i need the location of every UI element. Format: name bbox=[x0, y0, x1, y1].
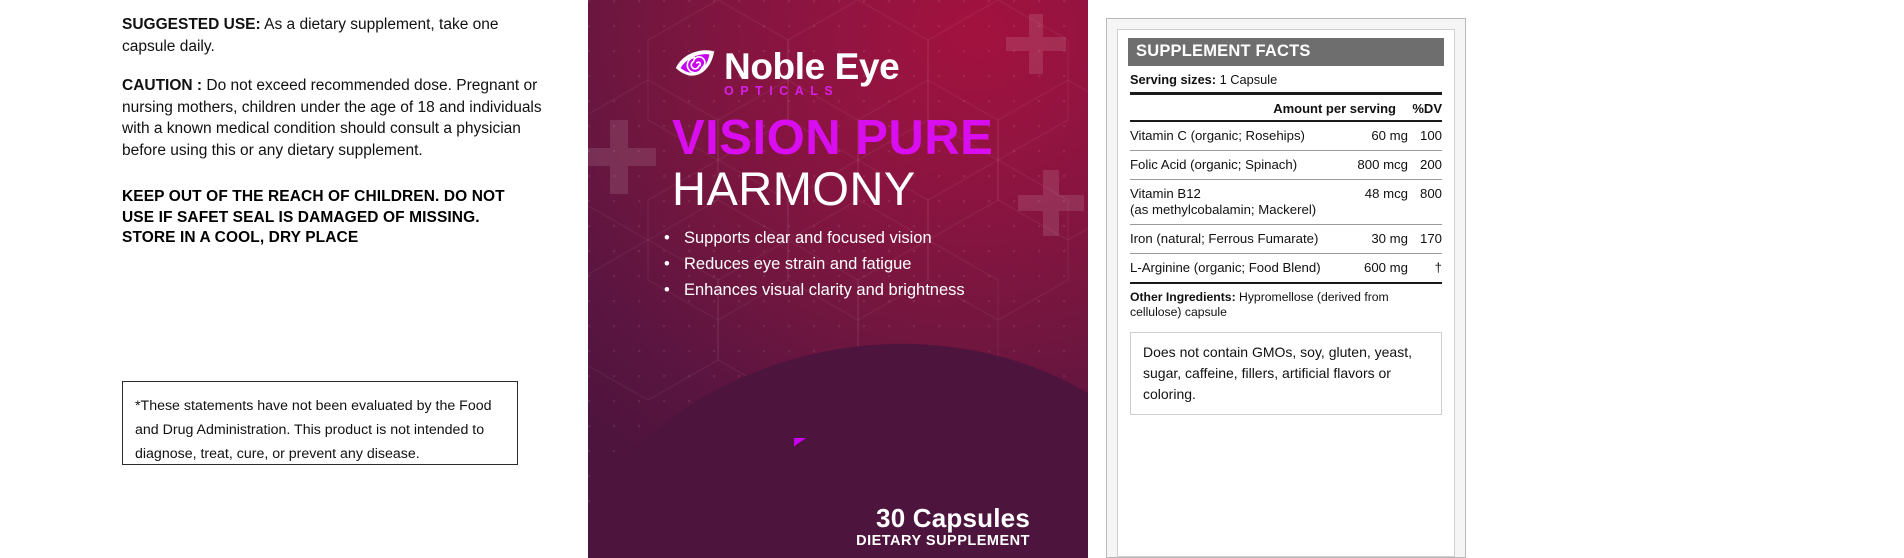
nutrient-dv: † bbox=[1408, 260, 1442, 276]
brand-name: Noble Eye bbox=[724, 47, 899, 87]
table-row: Vitamin C (organic; Rosehips) 60 mg 100 bbox=[1128, 122, 1444, 150]
nutrient-amount: 48 mcg bbox=[1342, 186, 1408, 202]
left-info-panel: SUGGESTED USE: As a dietary supplement, … bbox=[0, 0, 588, 558]
nutrient-amount: 800 mcg bbox=[1342, 157, 1408, 173]
serving-size-value: 1 Capsule bbox=[1220, 72, 1278, 87]
nutrient-dv: 200 bbox=[1408, 157, 1442, 173]
benefit-item: Enhances visual clarity and brightness bbox=[684, 278, 965, 303]
eye-spiral-logo-icon bbox=[672, 44, 718, 90]
table-header-row: Amount per serving %DV bbox=[1128, 95, 1444, 120]
nutrient-dv: 170 bbox=[1408, 231, 1442, 247]
nutrient-name: Iron (natural; Ferrous Fumarate) bbox=[1130, 231, 1342, 247]
nutrient-name: L-Arginine (organic; Food Blend) bbox=[1130, 260, 1342, 276]
allergen-free-box: Does not contain GMOs, soy, gluten, yeas… bbox=[1130, 332, 1442, 415]
nutrient-amount: 30 mg bbox=[1342, 231, 1408, 247]
plus-decoration-icon bbox=[1006, 14, 1066, 74]
benefits-list: Supports clear and focused vision Reduce… bbox=[660, 226, 965, 304]
capsule-count: 30 Capsules bbox=[856, 504, 1030, 532]
table-row: Iron (natural; Ferrous Fumarate) 30 mg 1… bbox=[1128, 225, 1444, 253]
caution-block: CAUTION : Do not exceed recommended dose… bbox=[122, 75, 552, 161]
column-header-amount: Amount per serving bbox=[1273, 101, 1396, 116]
serving-size-label: Serving sizes: bbox=[1130, 72, 1216, 87]
suggested-use-block: SUGGESTED USE: As a dietary supplement, … bbox=[122, 14, 552, 57]
fda-disclaimer-text: *These statements have not been evaluate… bbox=[135, 394, 503, 466]
warning-line-2: USE IF SAFET SEAL IS DAMAGED OF MISSING. bbox=[122, 208, 552, 229]
label-artboard: SUGGESTED USE: As a dietary supplement, … bbox=[0, 0, 1904, 558]
caution-label: CAUTION : bbox=[122, 77, 202, 94]
nutrient-name-sub: (as methylcobalamin; Mackerel) bbox=[1130, 202, 1342, 218]
nutrient-name: Vitamin C (organic; Rosehips) bbox=[1130, 128, 1342, 144]
fda-disclaimer-box: *These statements have not been evaluate… bbox=[122, 381, 518, 465]
keep-out-warning: KEEP OUT OF THE REACH OF CHILDREN. DO NO… bbox=[122, 187, 552, 249]
capsule-count-text: 30 Capsules DIETARY SUPPLEMENT bbox=[856, 504, 1030, 550]
supplement-facts-panel: SUPPLEMENT FACTS Serving sizes: 1 Capsul… bbox=[1106, 18, 1466, 558]
other-ingredients-label: Other Ingredients: bbox=[1130, 290, 1236, 304]
serving-size-row: Serving sizes: 1 Capsule bbox=[1128, 66, 1444, 92]
table-row: Folic Acid (organic; Spinach) 800 mcg 20… bbox=[1128, 151, 1444, 179]
benefit-item: Supports clear and focused vision bbox=[684, 226, 965, 251]
column-header-dv: %DV bbox=[1408, 101, 1442, 116]
left-text-stack: SUGGESTED USE: As a dietary supplement, … bbox=[122, 14, 552, 271]
warning-line-3: STORE IN A COOL, DRY PLACE bbox=[122, 228, 552, 249]
suggested-use-label: SUGGESTED USE: bbox=[122, 16, 261, 33]
table-row: Vitamin B12 (as methylcobalamin; Mackere… bbox=[1128, 180, 1444, 224]
plus-decoration-icon bbox=[588, 120, 656, 194]
nutrient-amount: 600 mg bbox=[1342, 260, 1408, 276]
brand-subtitle: OPTICALS bbox=[724, 84, 839, 98]
table-row: L-Arginine (organic; Food Blend) 600 mg … bbox=[1128, 254, 1444, 282]
nutrient-name-group: Vitamin B12 (as methylcobalamin; Mackere… bbox=[1130, 186, 1342, 218]
dietary-supplement-label: DIETARY SUPPLEMENT bbox=[856, 532, 1030, 550]
product-title-line1: VISION PURE bbox=[672, 112, 993, 164]
nutrient-amount: 60 mg bbox=[1342, 128, 1408, 144]
supplement-facts-title: SUPPLEMENT FACTS bbox=[1128, 38, 1444, 66]
plus-decoration-icon bbox=[1018, 170, 1084, 236]
nutrient-dv: 100 bbox=[1408, 128, 1442, 144]
nutrient-name: Folic Acid (organic; Spinach) bbox=[1130, 157, 1342, 173]
product-title-line2: HARMONY bbox=[672, 163, 916, 215]
supplement-facts-card: SUPPLEMENT FACTS Serving sizes: 1 Capsul… bbox=[1117, 29, 1455, 557]
nutrient-dv: 800 bbox=[1408, 186, 1442, 202]
product-front-panel: Noble Eye OPTICALS VISION PURE HARMONY S… bbox=[588, 0, 1088, 558]
warning-line-1: KEEP OUT OF THE REACH OF CHILDREN. DO NO… bbox=[122, 187, 552, 208]
benefit-item: Reduces eye strain and fatigue bbox=[684, 252, 965, 277]
nutrient-name: Vitamin B12 bbox=[1130, 186, 1201, 201]
other-ingredients-row: Other Ingredients: Hypromellose (derived… bbox=[1128, 284, 1444, 326]
